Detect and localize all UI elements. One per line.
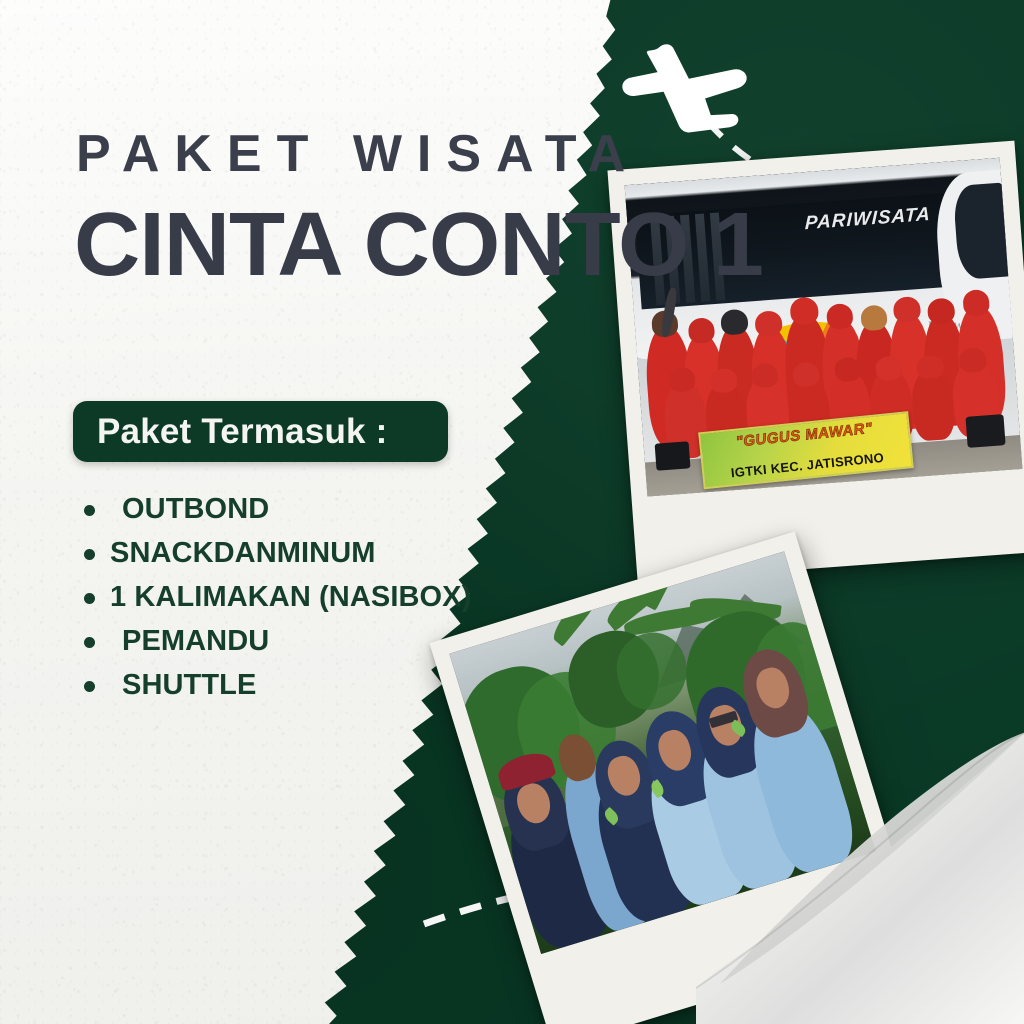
list-item: OUTBOND bbox=[110, 487, 580, 531]
features-list: OUTBOND SNACKDANMINUM 1 KALIMAKAN (NASIB… bbox=[72, 487, 580, 707]
page-title: CINTA CONTO 1 bbox=[74, 200, 763, 290]
poster-canvas: PARIWISATA Bus Pariwisata bbox=[0, 0, 1024, 1024]
status-badge: Paket Termasuk : bbox=[73, 401, 448, 462]
badge-label: Paket Termasuk : bbox=[73, 412, 387, 452]
list-item: SHUTTLE bbox=[110, 663, 580, 707]
list-item: 1 KALIMAKAN (NASIBOX) bbox=[110, 575, 580, 619]
kicker-text: PAKET WISATA bbox=[76, 128, 640, 180]
list-item: PEMANDU bbox=[110, 619, 580, 663]
list-item: SNACKDANMINUM bbox=[110, 531, 580, 575]
